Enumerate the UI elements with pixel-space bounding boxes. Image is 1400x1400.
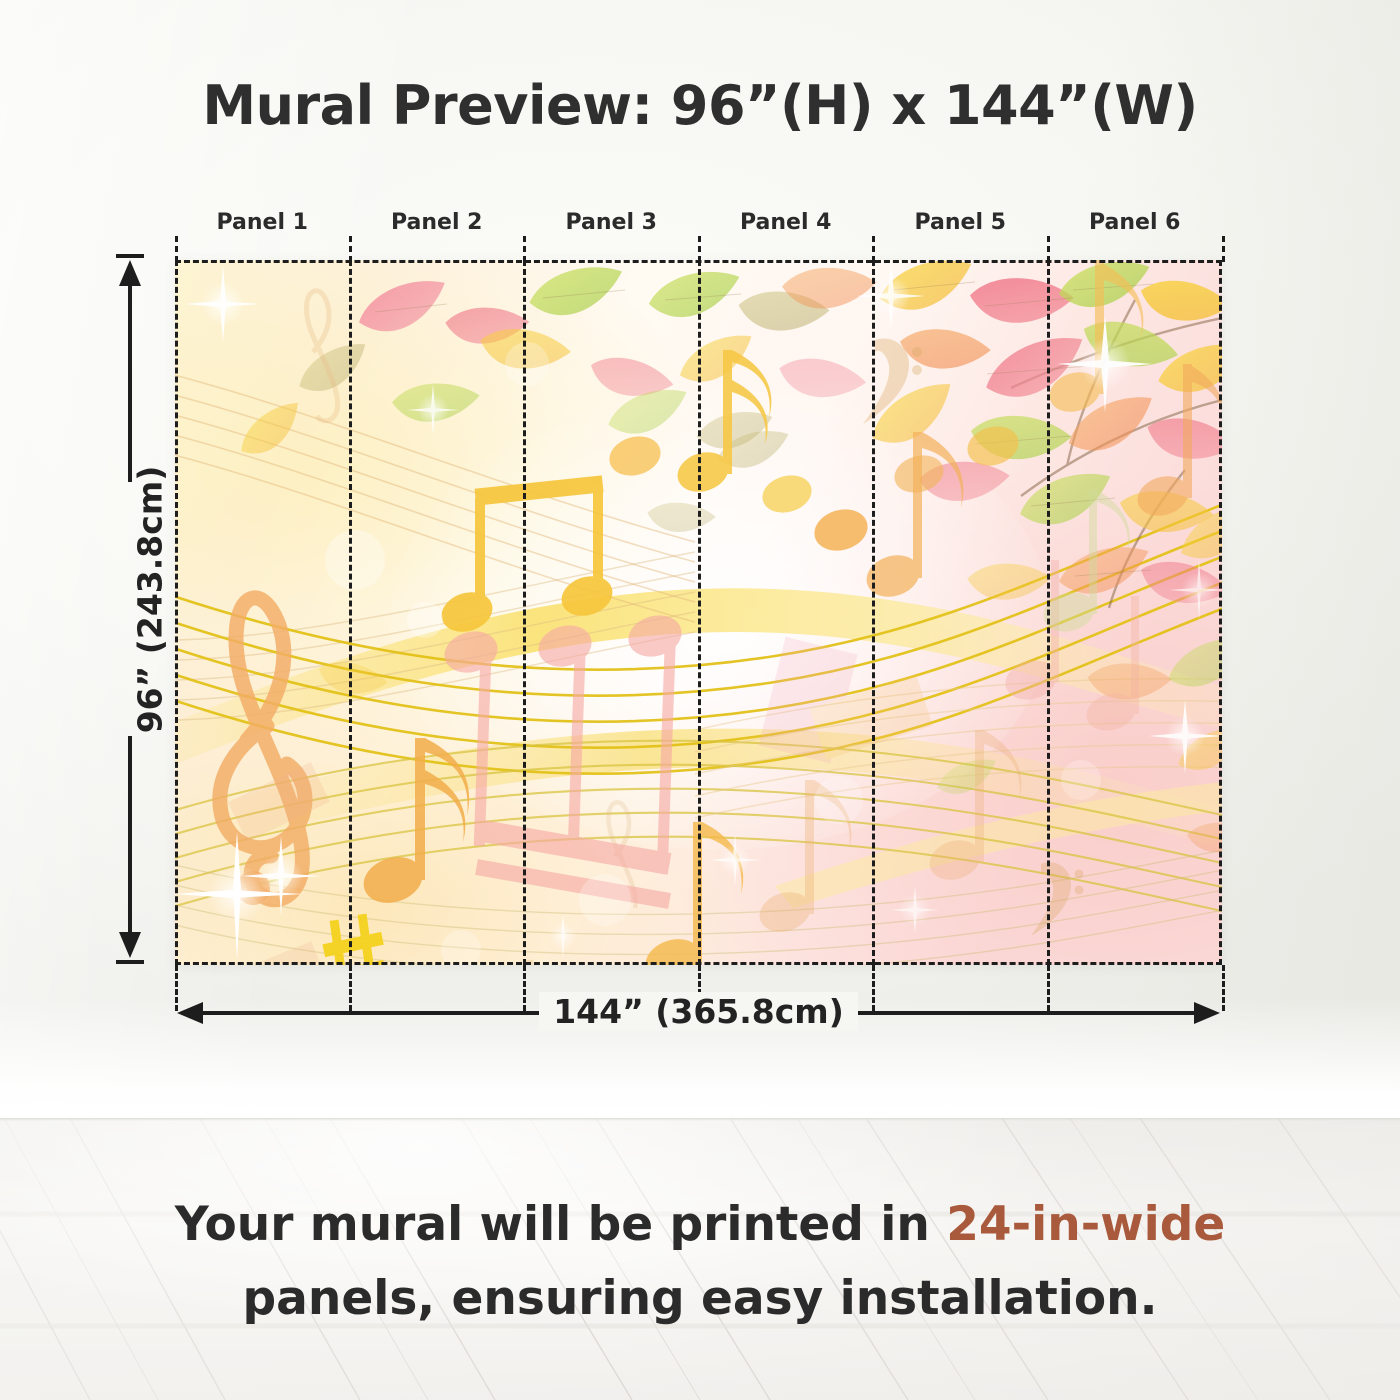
caption-accent: 24-in-wide — [946, 1197, 1225, 1252]
panel-label-3: Panel 3 — [524, 208, 699, 242]
panel-label-4: Panel 4 — [699, 208, 874, 242]
panel-tick-top-edge-right — [1222, 236, 1225, 262]
panel-tick-top-3 — [698, 236, 701, 262]
panel-tick-top-1 — [349, 236, 352, 262]
page-title: Mural Preview: 96”(H) x 144”(W) — [0, 74, 1400, 137]
panel-label-2: Panel 2 — [350, 208, 525, 242]
mural-preview-screenshot: Mural Preview: 96”(H) x 144”(W) Panel 1 … — [0, 0, 1400, 1400]
caption: Your mural will be printed in 24-in-wide… — [90, 1188, 1310, 1336]
width-dimension: 144” (365.8cm) — [175, 983, 1222, 1043]
panel-label-6: Panel 6 — [1048, 208, 1223, 242]
width-dimension-label: 144” (365.8cm) — [175, 983, 1222, 1041]
height-dimension-label: 96” (243.8cm) — [131, 350, 170, 850]
height-dimension: 96” (243.8cm) — [100, 250, 190, 970]
panel-tick-bottom-edge-right — [1222, 965, 1225, 1011]
panel-tick-top-4 — [872, 236, 875, 262]
caption-line-1: Your mural will be printed in 24-in-wide — [90, 1188, 1310, 1262]
floor-baseboard-line — [0, 1118, 1400, 1121]
caption-line-2: panels, ensuring easy installation. — [90, 1262, 1310, 1336]
width-dimension-text: 144” (365.8cm) — [539, 992, 858, 1031]
panel-label-1: Panel 1 — [175, 208, 350, 242]
mural-artwork — [175, 260, 1222, 965]
mural-preview-image — [175, 260, 1222, 965]
panel-tick-top-5 — [1047, 236, 1050, 262]
panel-label-5: Panel 5 — [873, 208, 1048, 242]
caption-line-1-prefix: Your mural will be printed in — [175, 1197, 946, 1252]
panel-tick-top-2 — [523, 236, 526, 262]
